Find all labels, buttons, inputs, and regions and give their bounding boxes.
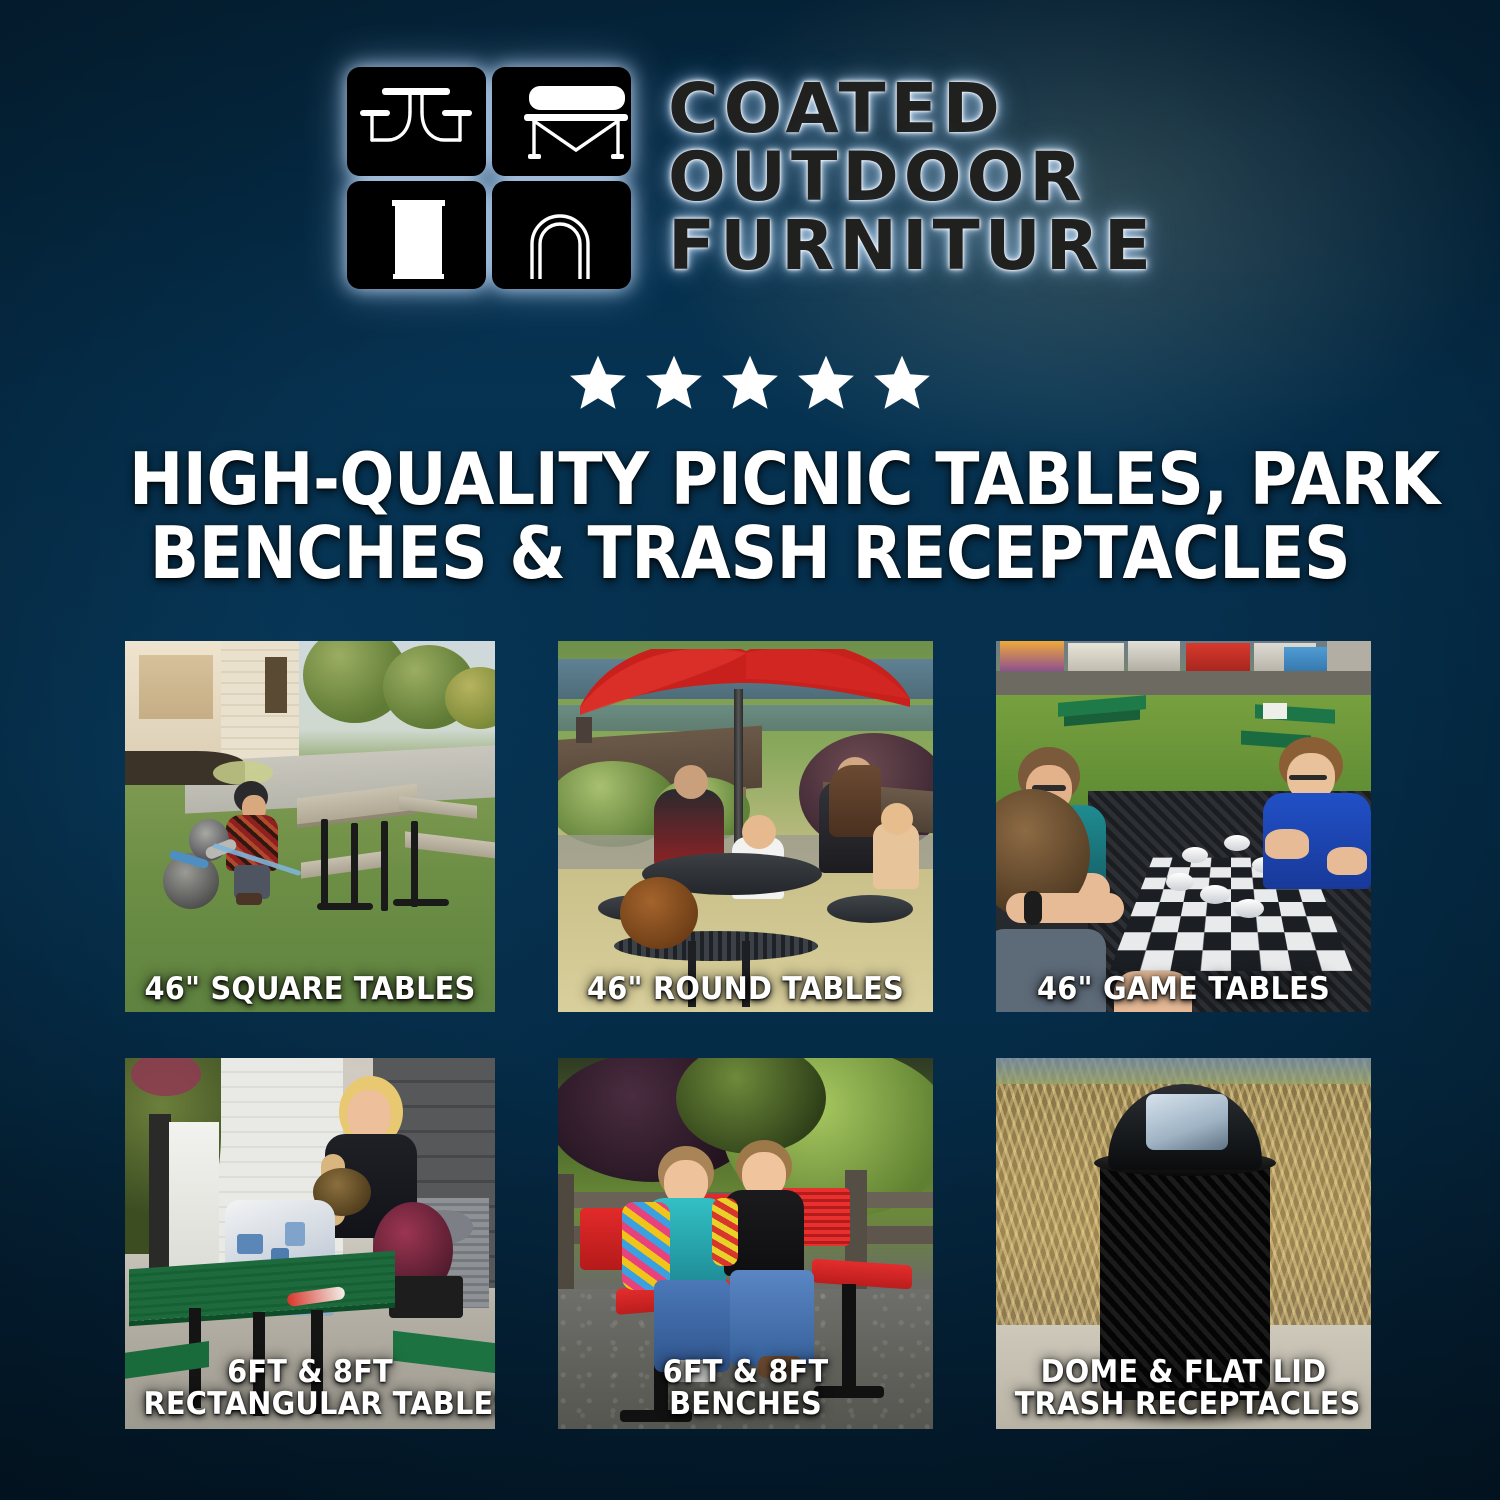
caption-line-1: 46" GAME TABLES [1015,974,1353,1006]
product-card-trash-receptacles[interactable]: DOME & FLAT LID TRASH RECEPTACLES [996,1058,1371,1429]
receptacle-opening [1146,1094,1228,1150]
product-caption: 6FT & 8FT BENCHES [571,1357,920,1421]
caption-line-2: BENCHES [577,1389,915,1421]
star-icon [794,352,858,414]
star-icon [870,352,934,414]
brand-name-line-1: COATED [668,76,1156,143]
page-title: HIGH-QUALITY PICNIC TABLES, PARK BENCHES… [75,442,1425,590]
umbrella-icon [580,649,910,731]
headline-line-1: HIGH-QUALITY PICNIC TABLES, PARK [129,442,1371,516]
dog-figure [163,819,237,909]
star-icon [718,352,782,414]
star-icon [642,352,706,414]
caption-line-2: TRASH RECEPTACLES [1015,1389,1353,1421]
headline-line-2: BENCHES & TRASH RECEPTACLES [129,516,1371,590]
caption-line-1: DOME & FLAT LID [1015,1357,1353,1389]
photo-square-tables [125,641,495,1012]
photo-round-tables [558,641,933,1012]
brand-logo: COATED OUTDOOR FURNITURE [0,64,1500,292]
star-icon [566,352,630,414]
product-card-benches[interactable]: 6FT & 8FT BENCHES [558,1058,933,1429]
advertisement-page: COATED OUTDOOR FURNITURE HIGH-QUALITY PI… [0,0,1500,1500]
caption-line-2: RECTANGULAR TABLES [144,1389,477,1421]
product-photo-grid: 46" SQUARE TABLES [125,641,1375,1429]
person-figure [716,1140,826,1380]
star-rating [0,352,1500,414]
caption-line-1: 46" ROUND TABLES [577,974,915,1006]
product-card-game-tables[interactable]: 46" GAME TABLES [996,641,1371,1012]
caption-line-1: 6FT & 8FT [577,1357,915,1389]
caption-line-1: 6FT & 8FT [144,1357,477,1389]
product-caption: 46" SQUARE TABLES [138,974,482,1006]
product-caption: 46" ROUND TABLES [571,974,920,1006]
product-caption: 46" GAME TABLES [1009,974,1358,1006]
brand-name-line-3: FURNITURE [668,213,1156,280]
product-card-rectangular-tables[interactable]: 6FT & 8FT RECTANGULAR TABLES [125,1058,495,1429]
photo-game-tables [996,641,1371,1012]
logo-icon-grid [344,64,634,292]
product-caption: DOME & FLAT LID TRASH RECEPTACLES [1009,1357,1358,1421]
brand-wordmark: COATED OUTDOOR FURNITURE [668,76,1156,280]
product-card-round-tables[interactable]: 46" ROUND TABLES [558,641,933,1012]
product-card-square-tables[interactable]: 46" SQUARE TABLES [125,641,495,1012]
brand-name-line-2: OUTDOOR [668,145,1156,211]
caption-line-1: 46" SQUARE TABLES [144,974,477,1006]
product-caption: 6FT & 8FT RECTANGULAR TABLES [138,1357,482,1421]
